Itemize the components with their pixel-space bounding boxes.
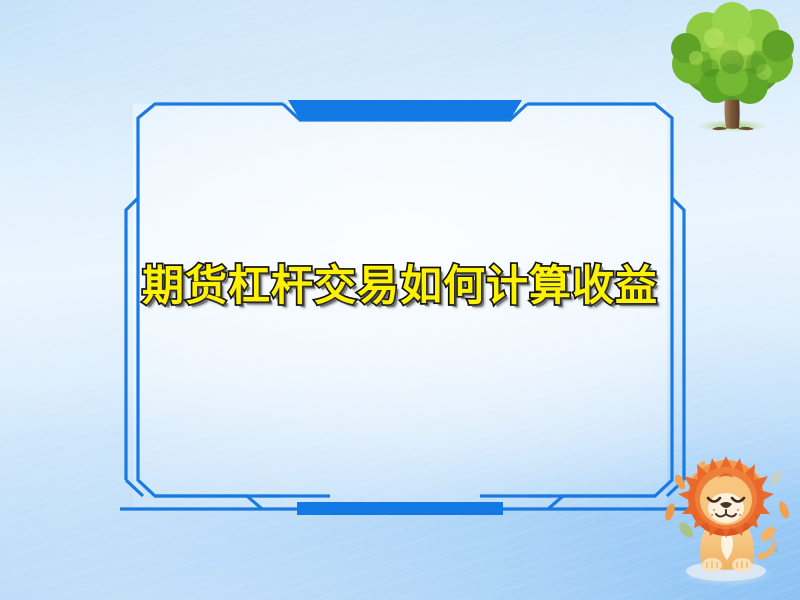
frame-right-edge	[529, 135, 672, 496]
frame-left-inner-bracket	[126, 198, 138, 480]
tree-illustration	[666, 2, 798, 136]
lion-illustration	[656, 438, 796, 598]
title-block: 期货杠杆交易如何计算收益	[133, 262, 667, 309]
frame-top-banner	[288, 100, 522, 120]
frame-left-edge	[138, 135, 281, 496]
frame-bottom-left-rail	[155, 496, 392, 509]
page-title: 期货杠杆交易如何计算收益	[142, 262, 658, 309]
frame-top-left-corner	[138, 104, 283, 135]
frame-bottom-right-rail	[418, 496, 655, 509]
tree-canopy	[671, 2, 794, 104]
frame-top-right-corner	[527, 104, 672, 135]
frame-bottom-banner	[297, 502, 503, 515]
frame-left-lower-joint	[126, 480, 143, 496]
slide-canvas: 期货杠杆交易如何计算收益	[0, 0, 800, 600]
frame-top-banner-outline	[283, 104, 527, 120]
